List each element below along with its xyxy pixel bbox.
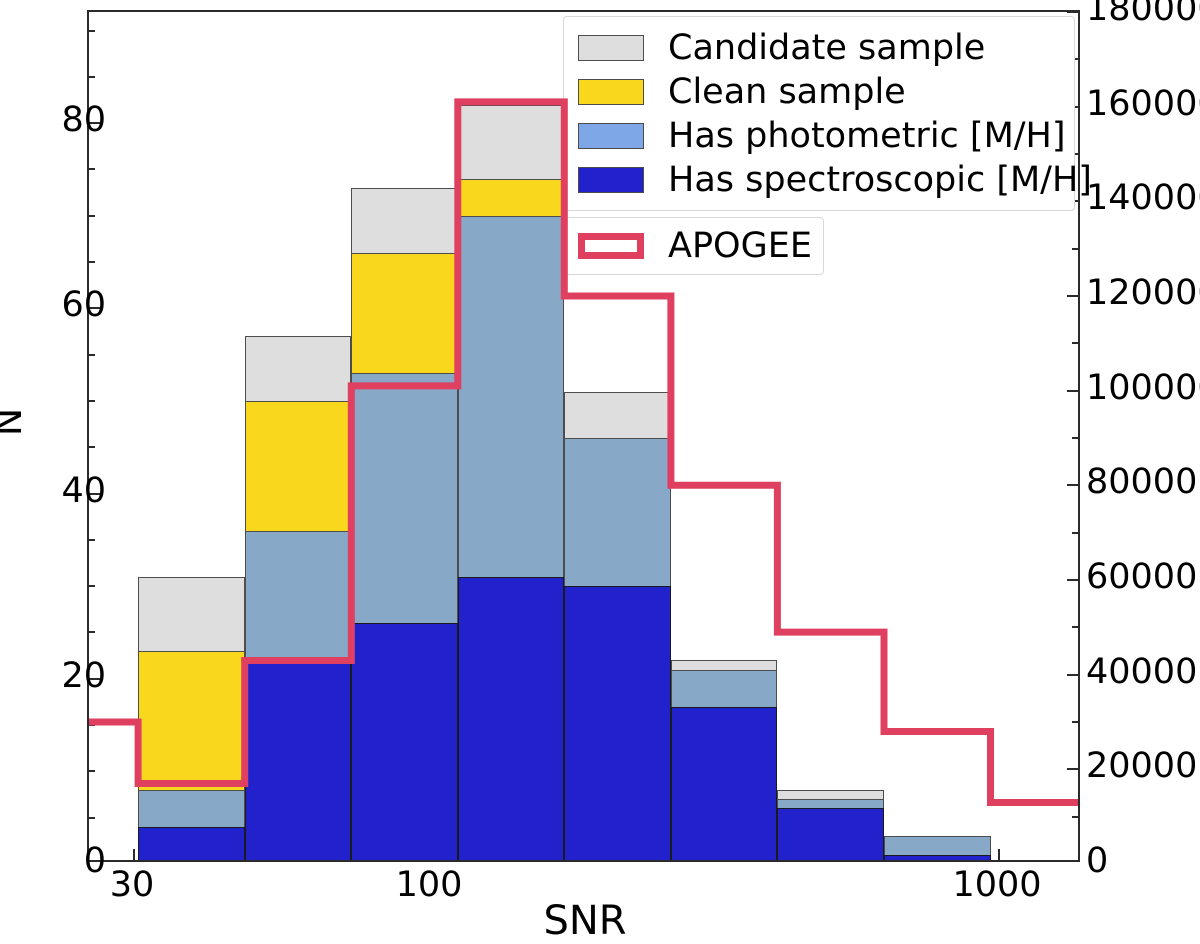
y2-tick-minor-90000 — [1072, 437, 1078, 439]
y2-tick-100000 — [1067, 390, 1078, 392]
legend-label-1: Clean sample — [668, 75, 906, 110]
y-tick-10 — [89, 770, 95, 772]
legend-apogee: APOGEE — [563, 217, 824, 275]
y2-tick-60000 — [1067, 579, 1078, 581]
legend-item-0[interactable]: Candidate sample — [578, 26, 1060, 70]
y2-tick-label-40000: 40000 — [1086, 655, 1197, 690]
y-tick-65 — [89, 261, 95, 263]
y-tick-55 — [89, 354, 95, 356]
y-tick-label-60: 60 — [61, 288, 106, 323]
x-tick-1000 — [998, 849, 1000, 860]
y-tick-45 — [89, 446, 95, 448]
y-tick-25 — [89, 631, 95, 633]
legend-main: Candidate sample Clean sample Has photom… — [563, 16, 1075, 211]
y2-tick-20000 — [1067, 768, 1078, 770]
legend-swatch-clean — [578, 79, 644, 105]
y2-tick-label-0: 0 — [1086, 844, 1108, 879]
legend-item-apogee[interactable]: APOGEE — [578, 224, 809, 268]
x-tick-label-30: 30 — [110, 868, 155, 903]
legend-swatch-spectroscopic — [578, 167, 644, 193]
y-tick-label-80: 80 — [61, 103, 106, 138]
legend-label-0: Candidate sample — [668, 31, 985, 66]
figure-root: N SNR 020406080 020000400006000080000100… — [0, 0, 1200, 937]
legend-label-3: Has spectroscopic [M/H] — [668, 163, 1092, 198]
x-tick-label-100: 100 — [396, 868, 463, 903]
y-axis-label: N — [0, 408, 30, 436]
y2-tick-minor-10000 — [1072, 816, 1078, 818]
y2-tick-minor-70000 — [1072, 532, 1078, 534]
legend-swatch-candidate — [578, 35, 644, 61]
y2-tick-minor-130000 — [1072, 248, 1078, 250]
y2-tick-label-120000: 120000 — [1086, 276, 1200, 311]
y2-tick-minor-50000 — [1072, 626, 1078, 628]
y2-tick-label-20000: 20000 — [1086, 749, 1197, 784]
y2-tick-label-80000: 80000 — [1086, 465, 1197, 500]
legend-label-apogee: APOGEE — [668, 229, 812, 264]
y-tick-label-20: 20 — [61, 659, 106, 694]
y2-tick-180000 — [1067, 11, 1078, 13]
legend-swatch-apogee — [578, 233, 644, 259]
y-tick-5 — [89, 817, 95, 819]
y-tick-85 — [89, 76, 95, 78]
bar-5-has-spectroscopic-m-h — [671, 707, 777, 862]
y-tick-15 — [89, 724, 95, 726]
y-tick-70 — [89, 215, 95, 217]
y2-tick-label-100000: 100000 — [1086, 371, 1200, 406]
bar-1-has-spectroscopic-m-h — [245, 660, 352, 862]
x-tick-label-1000: 1000 — [952, 868, 1041, 903]
y2-tick-minor-110000 — [1072, 342, 1078, 344]
legend-item-1[interactable]: Clean sample — [578, 70, 1060, 114]
y-tick-75 — [89, 168, 95, 170]
y-tick-label-40: 40 — [61, 474, 106, 509]
y2-tick-label-180000: 180000 — [1086, 0, 1200, 27]
legend-item-3[interactable]: Has spectroscopic [M/H] — [578, 158, 1060, 202]
bar-6-has-spectroscopic-m-h — [777, 808, 884, 862]
y-tick-50 — [89, 400, 95, 402]
bar-0-has-spectroscopic-m-h — [138, 827, 245, 862]
y2-tick-80000 — [1067, 484, 1078, 486]
bar-7-has-spectroscopic-m-h — [884, 855, 991, 862]
y2-tick-label-140000: 140000 — [1086, 181, 1200, 216]
bar-2-has-spectroscopic-m-h — [351, 623, 458, 862]
y-tick-35 — [89, 539, 95, 541]
y2-tick-40000 — [1067, 674, 1078, 676]
x-tick-30 — [133, 849, 135, 860]
y-tick-label-0: 0 — [84, 844, 106, 879]
y2-tick-120000 — [1067, 295, 1078, 297]
y-tick-30 — [89, 585, 95, 587]
y2-tick-minor-30000 — [1072, 721, 1078, 723]
legend-label-2: Has photometric [M/H] — [668, 119, 1066, 154]
bar-4-has-spectroscopic-m-h — [564, 586, 671, 862]
y2-tick-label-60000: 60000 — [1086, 560, 1197, 595]
legend-swatch-photometric — [578, 123, 644, 149]
legend-item-2[interactable]: Has photometric [M/H] — [578, 114, 1060, 158]
bar-3-has-spectroscopic-m-h — [458, 577, 565, 862]
y-tick-90 — [89, 30, 95, 32]
y2-tick-label-160000: 160000 — [1086, 87, 1200, 122]
